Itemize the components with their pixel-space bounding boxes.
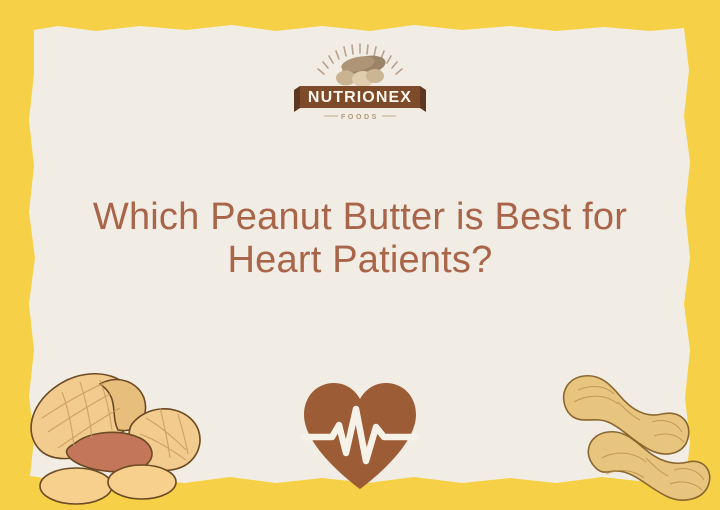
page-title-line-1: Which Peanut Butter is Best for <box>50 196 670 239</box>
poster-canvas: NUTRIONEX FOODS Which Peanut Butter is B… <box>0 0 720 510</box>
brand-tagline-text: FOODS <box>341 114 379 121</box>
heart-with-ecg-icon <box>298 375 422 493</box>
page-title-line-2: Heart Patients? <box>50 239 670 282</box>
whole-peanuts-illustration <box>552 362 714 510</box>
cracked-peanut-illustration <box>14 358 214 510</box>
page-title: Which Peanut Butter is Best for Heart Pa… <box>50 196 670 282</box>
brand-name-text: NUTRIONEX <box>308 89 412 106</box>
brand-logo: NUTRIONEX FOODS <box>294 40 426 130</box>
peanut-glyph <box>336 52 387 87</box>
brand-tagline: FOODS <box>310 108 410 127</box>
